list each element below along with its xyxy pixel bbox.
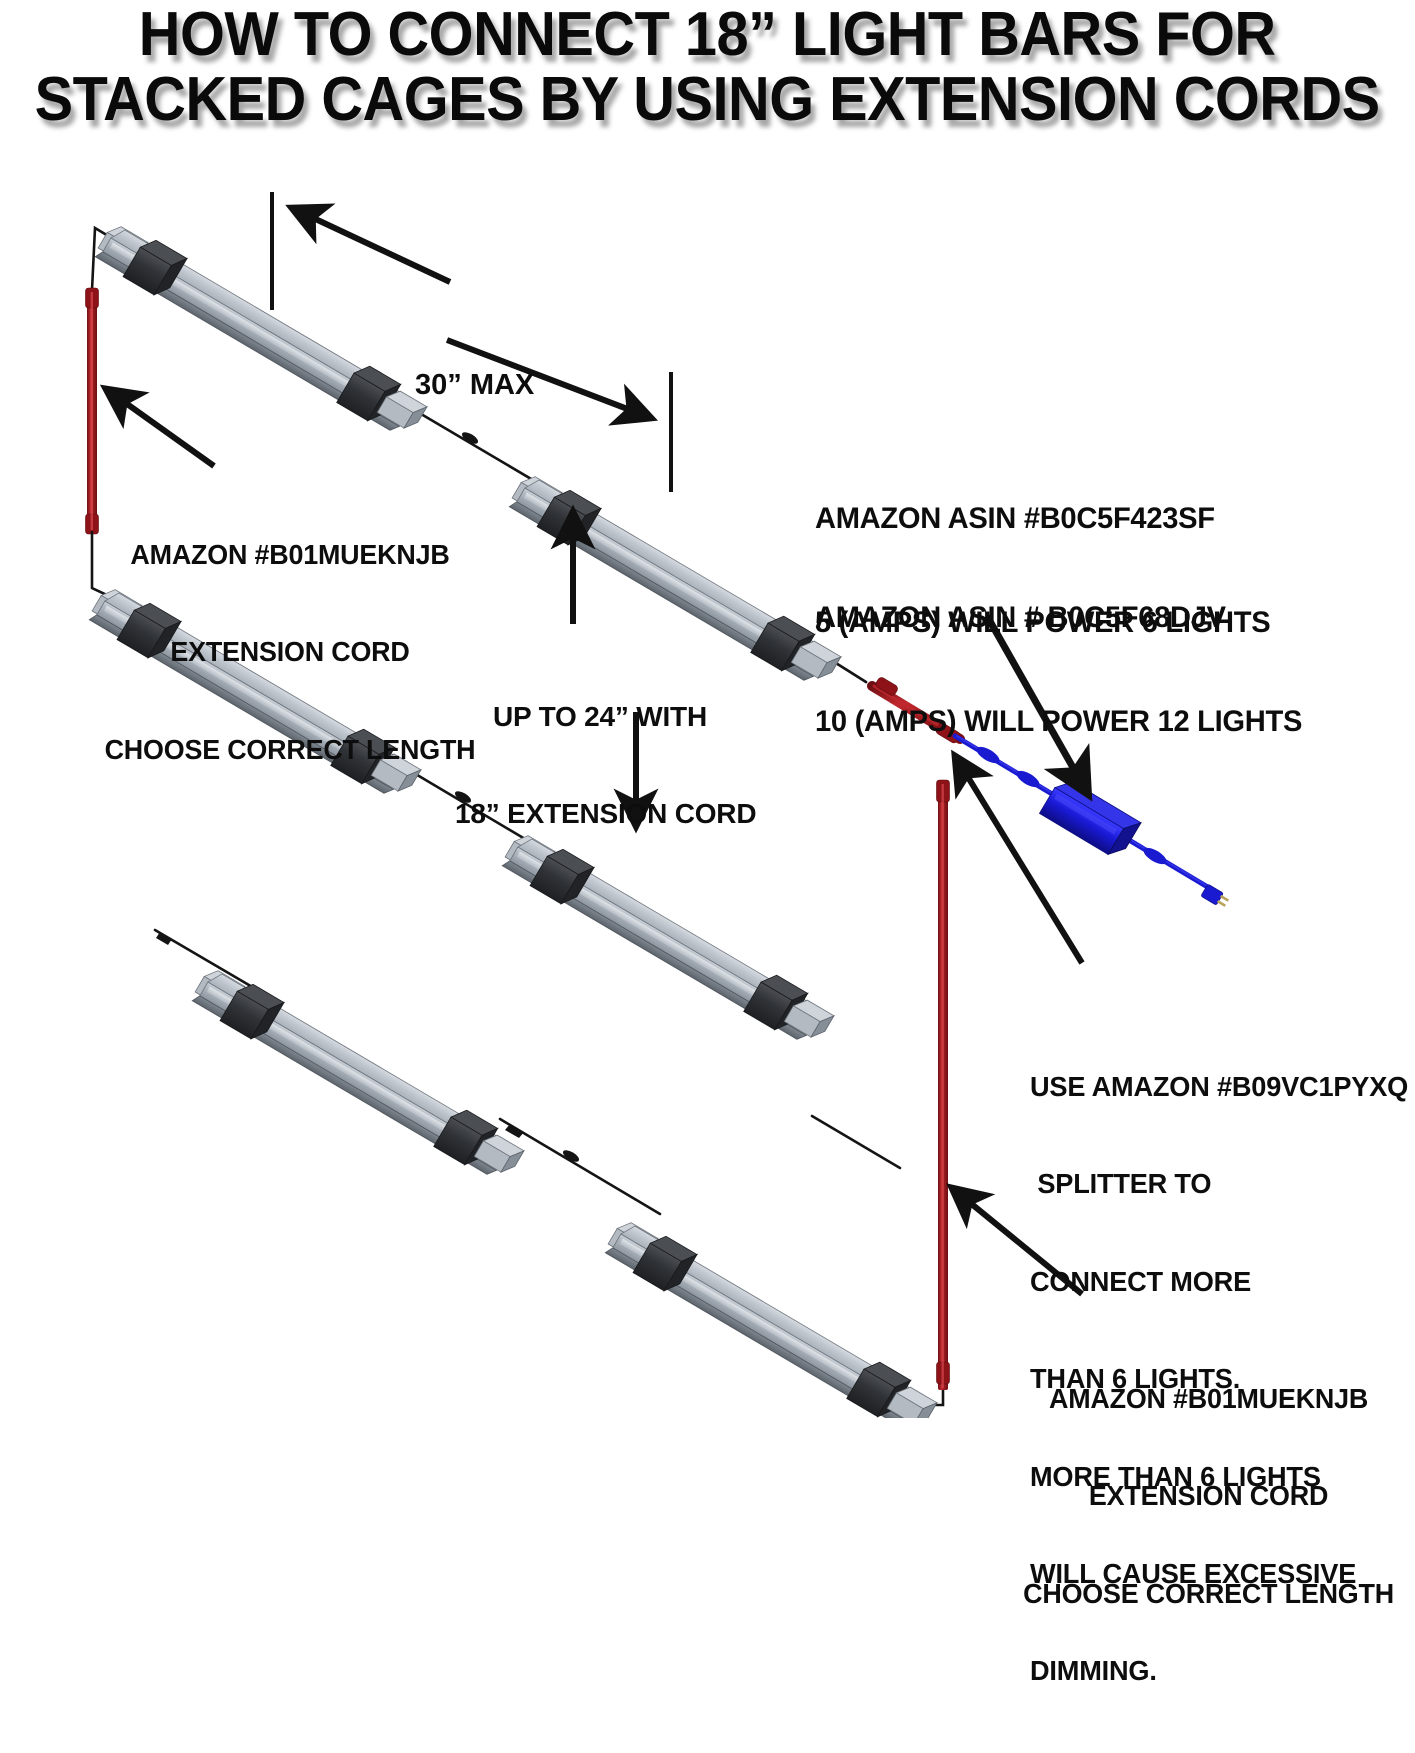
- annotation-up-to-24: UP TO 24” WITH 18” EXTENSION CORD: [455, 636, 745, 896]
- annotation-line: SPLITTER TO: [1030, 1168, 1408, 1200]
- annotation-asin-10amp: AMAZON ASIN # B0C5F68DJV 10 (AMPS) WILL …: [815, 531, 1378, 809]
- extension-cord-red-right: [937, 780, 950, 1390]
- annotation-line: AMAZON #B01MUEKNJB: [1018, 1383, 1399, 1415]
- annotation-line: 10 (AMPS) WILL POWER 12 LIGHTS: [815, 705, 1378, 740]
- annotation-line: EXTENSION CORD: [1018, 1480, 1399, 1512]
- annotation-extension-cord-left: AMAZON #B01MUEKNJB EXTENSION CORD CHOOSE…: [98, 474, 482, 831]
- annotation-line: AMAZON #B01MUEKNJB: [98, 539, 482, 571]
- light-bar: [602, 1213, 940, 1418]
- annotation-line: CONNECT MORE: [1030, 1266, 1408, 1298]
- annotation-30-max: 30” MAX: [415, 302, 534, 470]
- annotation-line: 18” EXTENSION CORD: [455, 798, 745, 830]
- annotation-line: EXTENSION CORD: [98, 636, 482, 668]
- leader-extension-cord-left: [106, 389, 214, 466]
- extension-cord-red-left: [86, 288, 99, 534]
- annotation-line: UP TO 24” WITH: [455, 701, 745, 733]
- annotation-line: CHOOSE CORRECT LENGTH: [98, 734, 482, 766]
- annotation-line: USE AMAZON #B09VC1PYXQ: [1030, 1071, 1408, 1103]
- annotation-line: AMAZON ASIN # B0C5F68DJV: [815, 601, 1378, 636]
- annotation-line: 30” MAX: [415, 369, 534, 403]
- light-bar: [189, 961, 527, 1187]
- annotation-extension-cord-bottom: AMAZON #B01MUEKNJB EXTENSION CORD CHOOSE…: [1018, 1318, 1399, 1675]
- infographic-canvas: HOW TO CONNECT 18” LIGHT BARS FOR STACKE…: [0, 0, 1415, 1418]
- annotation-line: CHOOSE CORRECT LENGTH: [1018, 1578, 1399, 1610]
